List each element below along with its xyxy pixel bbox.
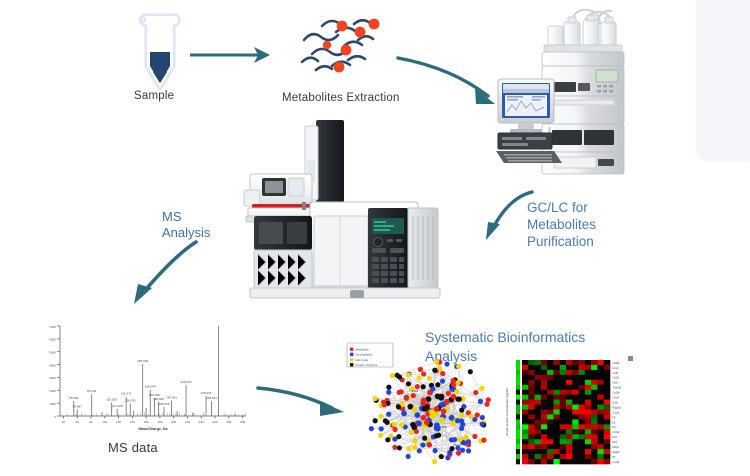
svg-text:IDH1: IDH1 <box>412 389 419 393</box>
svg-text:240: 240 <box>199 420 204 424</box>
svg-text:Cxcl2: Cxcl2 <box>613 460 620 464</box>
workflow-diagram: Sample <box>0 0 750 476</box>
svg-text:Serum protein concentration (p: Serum protein concentration (pg/ml) <box>505 388 509 436</box>
step-extraction: Metabolites Extraction <box>292 10 392 88</box>
svg-text:260: 260 <box>212 420 217 424</box>
network-graph-icon: IDH1PKM2G6PDFASNMetaboliteUp-regulatedHu… <box>345 340 513 476</box>
svg-text:Cxcl1: Cxcl1 <box>613 410 620 414</box>
svg-text:Il23: Il23 <box>613 440 618 444</box>
svg-text:80: 80 <box>89 420 93 424</box>
svg-text:280: 280 <box>226 420 231 424</box>
step-extraction-label: Metabolites Extraction <box>282 92 400 104</box>
svg-text:Il4: Il4 <box>613 415 616 419</box>
step-sample-label: Sample <box>134 90 174 102</box>
svg-text:FASN: FASN <box>453 443 461 447</box>
svg-text:100: 100 <box>102 420 107 424</box>
svg-text:Il3: Il3 <box>613 425 616 429</box>
step-purification <box>492 4 682 194</box>
svg-text:186.014: 186.014 <box>159 402 170 406</box>
svg-text:200: 200 <box>171 420 176 424</box>
svg-text:218.073: 218.073 <box>181 380 192 384</box>
svg-text:136.035: 136.035 <box>125 398 136 402</box>
svg-text:197.061: 197.061 <box>166 396 177 400</box>
decorative-corner-panel <box>696 0 750 162</box>
svg-text:81.044: 81.044 <box>87 389 97 393</box>
svg-text:Ccl2: Ccl2 <box>613 400 619 404</box>
heatmap-icon: Ccl21Lcn2Ccl5Ccl11Il1rbTnfsf11Ccl18Cxcl7… <box>500 352 645 476</box>
svg-text:220: 220 <box>185 420 190 424</box>
svg-text:180.060: 180.060 <box>153 397 164 401</box>
svg-text:300: 300 <box>240 420 245 424</box>
svg-text:55.036: 55.036 <box>69 396 79 400</box>
svg-text:Ccl11: Ccl11 <box>613 376 620 380</box>
arrow-sample-to-extraction <box>188 42 274 68</box>
svg-text:Ccl12: Ccl12 <box>613 430 620 434</box>
svg-text:Vegfa: Vegfa <box>613 450 620 454</box>
svg-text:Up-regulated: Up-regulated <box>356 353 373 357</box>
test-tube-icon <box>128 8 192 100</box>
svg-text:180: 180 <box>157 420 162 424</box>
svg-text:Lcn2: Lcn2 <box>613 366 619 370</box>
svg-text:140: 140 <box>130 420 135 424</box>
svg-text:3000: 3000 <box>49 376 56 380</box>
svg-text:Mcp1: Mcp1 <box>613 445 620 449</box>
svg-text:5000: 5000 <box>49 351 56 355</box>
purification-label-line-2: Metabolites <box>527 216 596 233</box>
svg-text:60: 60 <box>75 420 79 424</box>
svg-text:Il2: Il2 <box>613 420 616 424</box>
arrow-msdata-to-network <box>256 382 356 422</box>
svg-text:253.041: 253.041 <box>206 396 217 400</box>
svg-text:120: 120 <box>116 420 121 424</box>
svg-text:4000: 4000 <box>49 363 56 367</box>
svg-text:131.071: 131.071 <box>121 392 132 396</box>
hplc-instrument-icon <box>492 4 682 194</box>
svg-text:155.018: 155.018 <box>137 359 148 363</box>
svg-text:1000: 1000 <box>49 402 56 406</box>
molecules-icon <box>292 10 392 88</box>
svg-text:Il7: Il7 <box>613 455 616 459</box>
svg-text:Cxcl7: Cxcl7 <box>613 396 620 400</box>
svg-text:Ccl5: Ccl5 <box>613 371 619 375</box>
svg-text:160: 160 <box>144 420 149 424</box>
svg-text:Ccl18: Ccl18 <box>613 391 620 395</box>
svg-text:0: 0 <box>54 415 56 419</box>
svg-text:Ccl21: Ccl21 <box>613 361 620 365</box>
step-sample: Sample <box>128 8 192 100</box>
spectrum-title: MS data <box>108 440 158 455</box>
step-ms-analysis <box>232 112 448 308</box>
arrow-gcms-to-msdata <box>112 236 206 312</box>
svg-text:117.028: 117.028 <box>112 404 123 408</box>
purification-label-line-1: GC/LC for <box>527 199 596 216</box>
svg-text:G6PD: G6PD <box>439 425 448 429</box>
svg-text:Mass/Charge, Da: Mass/Charge, Da <box>139 427 169 431</box>
svg-text:PKM2: PKM2 <box>425 407 434 411</box>
svg-text:Il1rb: Il1rb <box>613 381 619 385</box>
svg-text:245.046: 245.046 <box>201 391 212 395</box>
step-purification-label: GC/LC for Metabolites Purification <box>527 199 596 250</box>
purification-label-line-3: Purification <box>527 233 596 250</box>
svg-text:2000: 2000 <box>49 389 56 393</box>
mass-spectrum-icon: 7000600050004000300020001000040608010012… <box>38 320 250 438</box>
svg-text:59.987: 59.987 <box>73 404 83 408</box>
svg-text:Fcgr2b: Fcgr2b <box>613 405 622 409</box>
svg-text:40: 40 <box>62 420 66 424</box>
svg-text:Protein / Enzyme: Protein / Enzyme <box>356 363 378 367</box>
svg-text:166.044: 166.044 <box>145 385 156 389</box>
svg-text:Hub node: Hub node <box>356 358 369 362</box>
ms-label-line-1: MS <box>162 209 210 225</box>
gcms-instrument-icon <box>232 112 448 308</box>
svg-text:Metabolite: Metabolite <box>356 348 370 352</box>
svg-text:Il10: Il10 <box>613 435 618 439</box>
svg-text:6000: 6000 <box>49 338 56 342</box>
svg-text:Tnfsf11: Tnfsf11 <box>613 386 622 390</box>
svg-text:110.020: 110.020 <box>106 398 117 402</box>
svg-text:7000: 7000 <box>49 325 56 329</box>
